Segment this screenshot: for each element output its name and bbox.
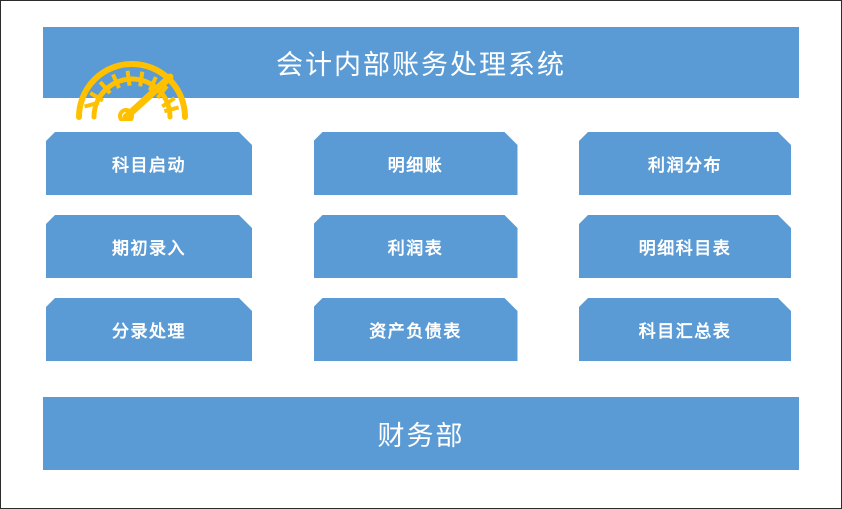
node-label: 明细账 <box>388 151 444 176</box>
node-button-zichan-fuzhaibiao[interactable]: 资产负债表 <box>314 298 518 361</box>
diagram-page: 会计内部账务处理系统 科目启动 <box>0 0 842 509</box>
node-label: 明细科目表 <box>639 234 732 259</box>
node-row: 期初录入 利润表 明细科目表 <box>46 215 791 278</box>
page-title: 会计内部账务处理系统 <box>276 43 566 82</box>
node-button-kemu-huizongbiao[interactable]: 科目汇总表 <box>579 298 791 361</box>
node-button-lirun-fenbu[interactable]: 利润分布 <box>579 132 791 195</box>
header-banner: 会计内部账务处理系统 <box>43 27 799 98</box>
node-label: 科目汇总表 <box>639 317 732 342</box>
node-label: 利润表 <box>388 234 444 259</box>
node-row: 分录处理 资产负债表 科目汇总表 <box>46 298 791 361</box>
node-label: 利润分布 <box>648 151 722 176</box>
node-button-qichu-luru[interactable]: 期初录入 <box>46 215 252 278</box>
footer-title: 财务部 <box>378 414 465 453</box>
node-grid: 科目启动 明细账 利润分布 期初录入 利润表 明细科目表 分录处理 <box>46 132 791 361</box>
node-label: 分录处理 <box>112 317 186 342</box>
node-button-mingxi-kemubiao[interactable]: 明细科目表 <box>579 215 791 278</box>
node-button-fenlu-chuli[interactable]: 分录处理 <box>46 298 252 361</box>
node-label: 科目启动 <box>112 151 186 176</box>
footer-banner: 财务部 <box>43 397 799 470</box>
node-button-mingxizhang[interactable]: 明细账 <box>314 132 518 195</box>
node-label: 资产负债表 <box>369 317 462 342</box>
node-button-kemu-qidong[interactable]: 科目启动 <box>46 132 252 195</box>
node-label: 期初录入 <box>112 234 186 259</box>
node-button-lirunbiao[interactable]: 利润表 <box>314 215 518 278</box>
node-row: 科目启动 明细账 利润分布 <box>46 132 791 195</box>
